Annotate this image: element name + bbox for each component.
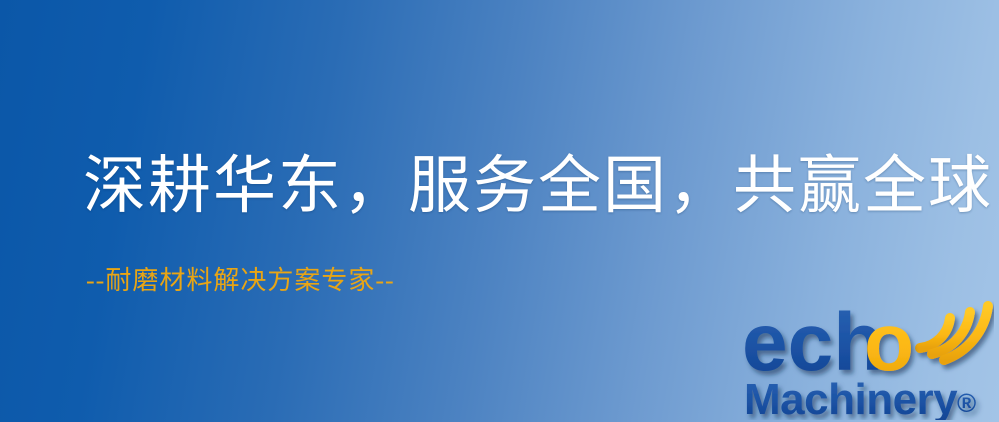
logo-registered-mark: ® [957, 388, 976, 418]
page-title: 深耕华东，服务全国，共赢全球 [83, 146, 993, 226]
echo-machinery-logo-icon: ech o Machinery ® [742, 292, 994, 420]
hero-banner: 深耕华东，服务全国，共赢全球 --耐磨材料解决方案专家-- [0, 0, 999, 422]
logo-wordmark-machinery: Machinery [744, 375, 958, 420]
page-subtitle: --耐磨材料解决方案专家-- [86, 264, 395, 298]
company-logo[interactable]: ech o Machinery ® [742, 292, 994, 420]
echo-wave-arcs-icon [920, 306, 988, 360]
